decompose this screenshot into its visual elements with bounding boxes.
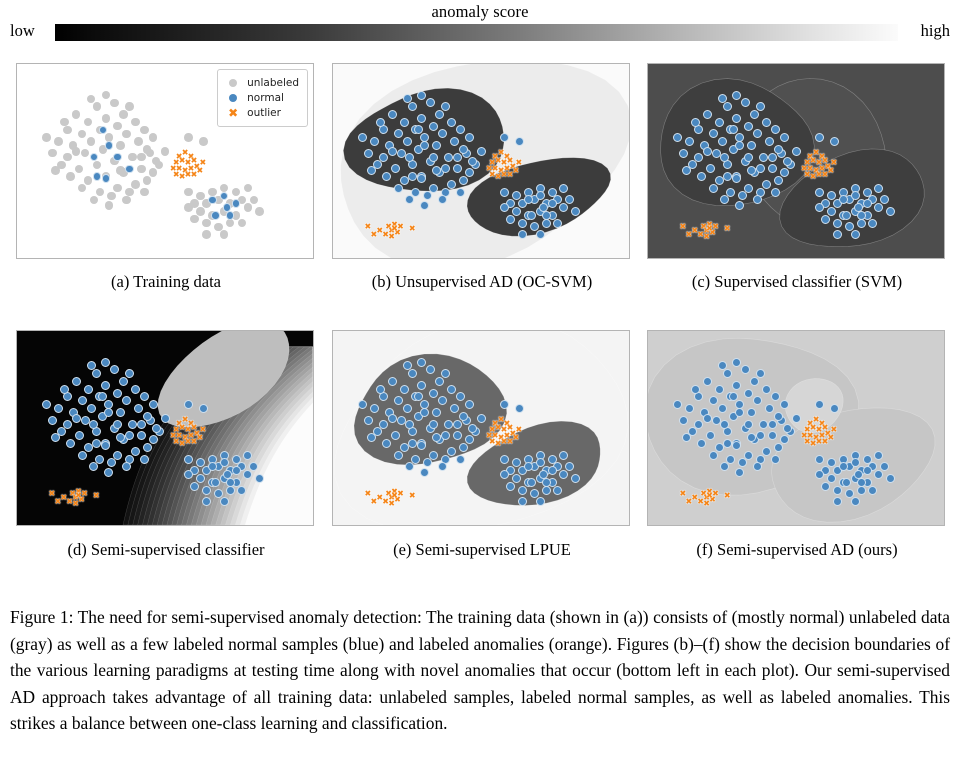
normal-point [821,482,830,491]
normal-point [137,431,146,440]
normal-point [827,474,836,483]
normal-point [553,486,562,495]
normal-point [417,91,426,100]
normal-point [417,358,426,367]
normal-point [137,420,146,429]
normal-point [84,443,93,452]
normal-point [792,147,801,156]
normal-point [75,431,84,440]
normal-point [753,462,762,471]
normal-point [408,102,417,111]
normal-point [673,133,682,142]
normal-point [780,133,789,142]
normal-point [107,458,116,467]
normal-point [833,486,842,495]
unlabeled-point [119,110,128,119]
unlabeled-point [48,149,57,158]
normal-point [571,474,580,483]
normal-point [468,424,477,433]
normal-point [149,435,158,444]
normal-point [184,400,193,409]
colorbar-low-label: low [10,21,35,41]
normal-point [161,414,170,423]
normal-point [42,400,51,409]
normal-point [542,219,551,228]
normal-point [468,157,477,166]
unlabeled-point [137,165,146,174]
normal-point [738,191,747,200]
normal-point [842,211,851,220]
normal-point [184,470,193,479]
normal-point [429,153,438,162]
normal-point [51,433,60,442]
unlabeled-point [184,188,193,197]
unlabeled-point [244,184,253,193]
normal-point [857,219,866,228]
normal-point [400,385,409,394]
normal-point [379,125,388,134]
normal-point [441,369,450,378]
figure-caption: Figure 1: The need for semi-supervised a… [10,604,950,737]
normal-point [403,361,412,370]
normal-point [753,129,762,138]
outlier-x-marker: ✖ [60,494,67,502]
normal-point [771,125,780,134]
normal-point [87,361,96,370]
outlier-x-marker: ✖ [703,233,710,241]
unlabeled-point [140,188,149,197]
normal-point [84,385,93,394]
panel-e-semi-supervised-lpue: ✖✖✖✖✖✖✖✖✖✖✖✖✖✖✖✖✖✖✖✖✖✖✖✖✖✖✖✖✖✖ [332,330,630,526]
normal-point [559,470,568,479]
normal-point [456,125,465,134]
normal-point [768,420,777,429]
outlier-x-marker: ✖ [706,225,713,233]
legend-label-normal: normal [247,92,284,104]
normal-point [104,408,113,417]
normal-point [685,404,694,413]
normal-point [113,389,122,398]
normal-point [196,474,205,483]
unlabeled-point [190,215,199,224]
normal-point [128,420,137,429]
normal-point [379,392,388,401]
panel-d-semi-supervised-classifier: ✖✖✖✖✖✖✖✖✖✖✖✖✖✖✖✖✖✖✖✖✖✖✖✖✖✖✖✖✖✖ [16,330,314,526]
unlabeled-point [149,168,158,177]
normal-point [417,114,426,123]
normal-point [459,412,468,421]
normal-point [559,184,568,193]
panel-b-caption: (b) Unsupervised AD (OC-SVM) [332,272,632,292]
normal-point [723,160,732,169]
unlabeled-point [72,147,81,156]
normal-point [110,365,119,374]
normal-point [851,230,860,239]
normal-point [441,431,450,440]
normal-point [63,392,72,401]
normal-point [417,174,426,183]
normal-point [753,396,762,405]
normal-point [886,474,895,483]
normal-point [771,188,780,197]
unlabeled-point [96,188,105,197]
unlabeled-point [102,91,111,100]
normal-point [792,414,801,423]
outlier-x-marker: ✖ [199,159,206,167]
normal-point [732,358,741,367]
normal-point [874,184,883,193]
normal-point [202,497,211,506]
normal-point [542,478,551,487]
normal-point [116,408,125,417]
normal-point [723,102,732,111]
outlier-marker-icon: ✖ [224,106,242,120]
unlabeled-point [255,207,264,216]
normal-point [388,377,397,386]
normal-point [500,133,509,142]
normal-point [429,122,438,131]
normal-point [874,203,883,212]
normal-point [101,441,110,450]
unlabeled-point [244,203,253,212]
normal-point [134,404,143,413]
normal-point [765,137,774,146]
legend-label-unlabeled: unlabeled [247,77,299,89]
normal-point [447,118,456,127]
normal-point [732,174,741,183]
normal-point [149,400,158,409]
normal-point [720,462,729,471]
normal-point [548,466,557,475]
normal-point [417,441,426,450]
outlier-x-marker: ✖ [489,171,496,179]
unlabeled-point [81,149,90,158]
unlabeled-point [72,110,81,119]
outlier-x-marker: ✖ [828,434,835,442]
normal-point [771,455,780,464]
normal-point [358,400,367,409]
normal-point [459,145,468,154]
normal-point [709,129,718,138]
normal-point [140,455,149,464]
panel-e-caption: (e) Semi-supervised LPUE [332,540,632,560]
normal-point [783,424,792,433]
normal-point [518,486,527,495]
normal-point [249,462,258,471]
normal-point [376,118,385,127]
normal-point [426,98,435,107]
normal-point [512,474,521,483]
outlier-x-marker: ✖ [515,426,522,434]
normal-point [842,478,851,487]
outlier-x-marker: ✖ [513,167,520,175]
normal-point [771,392,780,401]
normal-point [400,176,409,185]
outlier-x-marker: ✖ [409,492,416,500]
normal-point [438,462,447,471]
normal-point [780,435,789,444]
normal-point [542,211,551,220]
normal-point [453,420,462,429]
normal-point [370,137,379,146]
unlabeled-point [63,153,72,162]
normal-point [709,451,718,460]
normal-point [411,188,420,197]
normal-point [500,470,509,479]
unlabeled-point [116,141,125,150]
normal-point [237,486,246,495]
outlier-x-marker: ✖ [391,492,398,500]
normal-point [447,385,456,394]
normal-point [780,400,789,409]
unlabeled-point [232,188,241,197]
normal-point [391,431,400,440]
normal-point [515,404,524,413]
normal-point [95,455,104,464]
colorbar-title: anomaly score [0,2,960,22]
normal-point [400,443,409,452]
legend: unlabeled normal ✖ outlier [217,69,308,127]
normal-point [232,466,241,475]
normal-point [408,160,417,169]
normal-point [125,431,134,440]
normal-point [438,195,447,204]
normal-point [863,199,872,208]
normal-point [102,174,111,183]
normal-point [232,199,241,208]
normal-point [394,451,403,460]
normal-point [465,133,474,142]
normal-point [453,164,462,173]
outlier-x-marker: ✖ [712,223,719,231]
normal-point [783,157,792,166]
panel-d-plot-area: ✖✖✖✖✖✖✖✖✖✖✖✖✖✖✖✖✖✖✖✖✖✖✖✖✖✖✖✖✖✖ [17,331,313,525]
normal-point [226,478,235,487]
normal-point [747,408,756,417]
normal-point [131,447,140,456]
normal-point [122,396,131,405]
normal-point [388,110,397,119]
normal-point [857,211,866,220]
normal-point [420,408,429,417]
normal-point [851,497,860,506]
outlier-x-marker: ✖ [706,492,713,500]
normal-point [559,451,568,460]
normal-point [477,147,486,156]
normal-point [60,385,69,394]
outlier-x-marker: ✖ [391,225,398,233]
unlabeled-point [84,118,93,127]
normal-point [423,191,432,200]
normal-point [768,431,777,440]
unlabeled-point [184,133,193,142]
normal-point [255,474,264,483]
normal-point [465,168,474,177]
outlier-x-marker: ✖ [197,167,204,175]
normal-point [518,219,527,228]
normal-point [694,125,703,134]
normal-point [78,396,87,405]
outlier-x-marker: ✖ [828,167,835,175]
normal-point [426,365,435,374]
normal-point [243,470,252,479]
normal-point [527,211,536,220]
normal-point [694,392,703,401]
panel-a-training-data: ✖✖✖✖✖✖✖✖✖✖✖✖✖✖✖✖✖✖ unlabeled normal ✖ ou… [16,63,314,259]
normal-point [376,385,385,394]
normal-point [732,441,741,450]
normal-point [874,470,883,479]
unlabeled-point [143,176,152,185]
normal-point [706,164,715,173]
normal-point [759,420,768,429]
normal-point [211,211,220,220]
outlier-x-marker: ✖ [376,494,383,502]
normal-point [444,153,453,162]
unlabeled-point [125,102,134,111]
normal-point [122,462,131,471]
normal-point [515,137,524,146]
normal-point [833,497,842,506]
normal-point [868,219,877,228]
normal-point [780,168,789,177]
normal-point [441,164,450,173]
unlabeled-point [143,145,152,154]
outlier-x-marker: ✖ [388,500,395,508]
normal-point [715,443,724,452]
normal-point [815,188,824,197]
normal-point [417,381,426,390]
normal-marker-icon [224,92,242,104]
normal-point [718,361,727,370]
unlabeled-point [199,137,208,146]
normal-point [397,149,406,158]
outlier-x-marker: ✖ [691,494,698,502]
normal-point [226,486,235,495]
normal-point [367,433,376,442]
normal-point [450,137,459,146]
normal-point [857,486,866,495]
unlabeled-point [66,172,75,181]
normal-point [886,207,895,216]
normal-point [72,377,81,386]
unlabeled-point [102,114,111,123]
outlier-x-marker: ✖ [804,438,811,446]
normal-point [405,195,414,204]
normal-point [762,180,771,189]
normal-point [199,404,208,413]
panel-c-plot-area: ✖✖✖✖✖✖✖✖✖✖✖✖✖✖✖✖✖✖✖✖✖✖✖✖✖✖✖✖✖✖ [648,64,944,258]
normal-point [408,439,417,448]
normal-point [113,153,122,162]
normal-point [706,431,715,440]
unlabeled-point [78,184,87,193]
normal-point [388,147,397,156]
panel-f-semi-supervised-ad-ours: ✖✖✖✖✖✖✖✖✖✖✖✖✖✖✖✖✖✖✖✖✖✖✖✖✖✖✖✖✖✖ [647,330,945,526]
normal-point [358,133,367,142]
outlier-x-marker: ✖ [409,225,416,233]
unlabeled-point [107,192,116,201]
unlabeled-point [60,118,69,127]
normal-point [438,396,447,405]
normal-point [765,404,774,413]
normal-point [453,431,462,440]
normal-point [527,478,536,487]
normal-point [184,455,193,464]
normal-point [756,164,765,173]
normal-point [868,486,877,495]
normal-point [54,404,63,413]
normal-point [429,420,438,429]
normal-point [420,141,429,150]
normal-point [720,195,729,204]
normal-point [756,431,765,440]
normal-point [432,141,441,150]
normal-point [833,219,842,228]
normal-point [104,468,113,477]
normal-point [465,400,474,409]
normal-point [679,416,688,425]
normal-point [697,439,706,448]
normal-point [744,389,753,398]
normal-point [405,462,414,471]
outlier-x-marker: ✖ [703,500,710,508]
normal-point [768,164,777,173]
normal-point [432,408,441,417]
panel-f-caption: (f) Semi-supervised AD (ours) [647,540,947,560]
normal-point [388,414,397,423]
normal-point [762,385,771,394]
normal-point [456,455,465,464]
normal-point [682,166,691,175]
normal-point [500,400,509,409]
normal-point [394,129,403,138]
normal-point [518,497,527,506]
normal-point [815,400,824,409]
normal-point [732,381,741,390]
normal-point [815,133,824,142]
unlabeled-point [250,196,259,205]
colorbar-region: anomaly score low high [0,0,960,50]
unlabeled-point [84,176,93,185]
unlabeled-point [202,219,211,228]
unlabeled-point [131,118,140,127]
outlier-x-marker: ✖ [515,159,522,167]
normal-point [382,172,391,181]
normal-point [679,149,688,158]
normal-point [364,149,373,158]
unlabeled-point [93,161,102,170]
normal-point [113,420,122,429]
outlier-x-marker: ✖ [81,490,88,498]
normal-point [741,365,750,374]
outlier-x-marker: ✖ [75,492,82,500]
normal-point [500,188,509,197]
legend-item-normal: normal [224,91,299,105]
panel-b-unsupervised-ad: ✖✖✖✖✖✖✖✖✖✖✖✖✖✖✖✖✖✖✖✖✖✖✖✖✖✖✖✖✖✖ [332,63,630,259]
normal-point [718,94,727,103]
normal-point [863,466,872,475]
normal-point [441,102,450,111]
normal-point [456,392,465,401]
normal-point [715,176,724,185]
normal-point [394,396,403,405]
normal-point [756,102,765,111]
normal-point [565,195,574,204]
normal-point [762,118,771,127]
unlabeled-point [75,165,84,174]
panel-b-plot-area: ✖✖✖✖✖✖✖✖✖✖✖✖✖✖✖✖✖✖✖✖✖✖✖✖✖✖✖✖✖✖ [333,64,629,258]
